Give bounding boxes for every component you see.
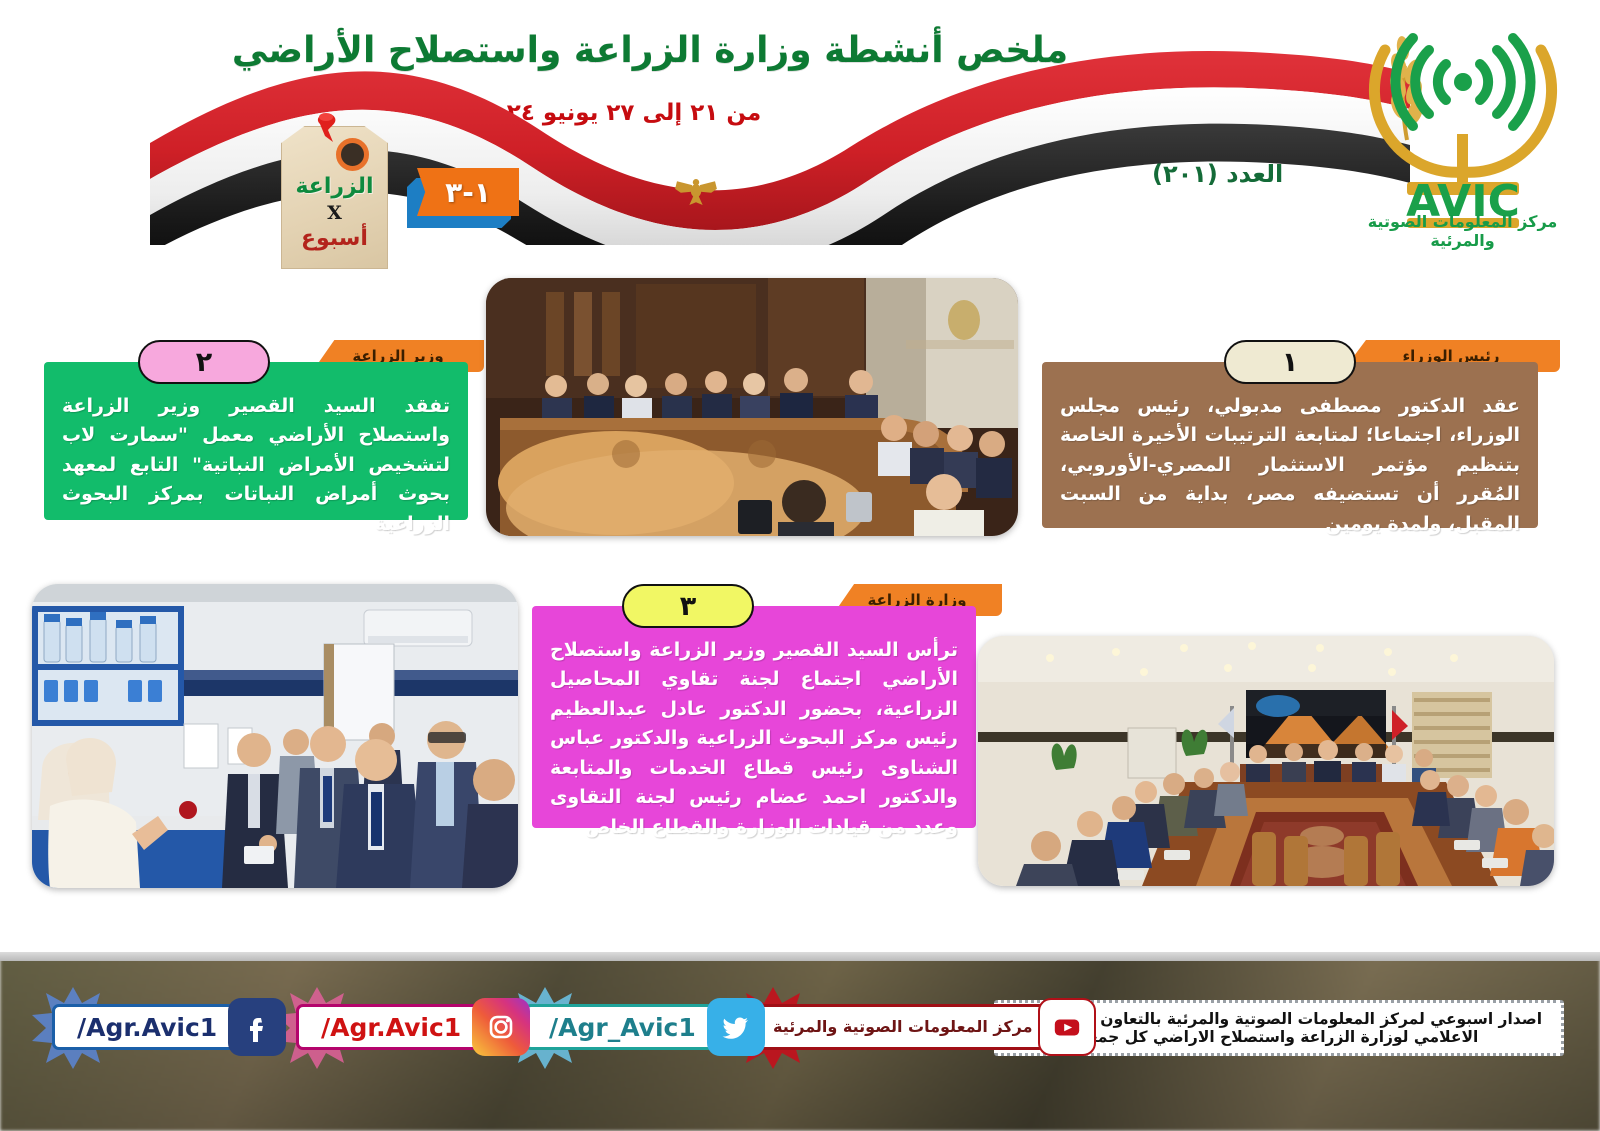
tag-multiplier: X	[281, 202, 388, 224]
cabinet-meeting-photo	[486, 278, 1018, 536]
issue-number: العدد (٢٠١)	[1152, 160, 1283, 188]
news-card-3: وزارة الزراعة ترأس السيد القصير وزير الز…	[532, 584, 1002, 834]
card-1-number: ١	[1282, 347, 1298, 378]
social-link-youtube[interactable]: مركز المعلومات الصوتية والمرئية	[752, 998, 1096, 1056]
youtube-icon	[1038, 998, 1096, 1056]
tag-line-week: أسبوع	[281, 226, 388, 251]
twitter-icon	[707, 998, 765, 1056]
avic-logo: AVIC مركز المعلومات الصوتية والمرئية	[1345, 22, 1580, 252]
instagram-handle: /Agr.Avic1	[296, 1004, 480, 1050]
card-2-number-badge: ٢	[138, 340, 270, 384]
conference-room-photo	[978, 636, 1554, 886]
page-indicator-label: ١-٣	[445, 176, 491, 209]
facebook-icon	[228, 998, 286, 1056]
laboratory-visit-photo	[32, 584, 518, 888]
hanging-tag: الزراعة X أسبوع	[281, 112, 401, 272]
card-1-number-badge: ١	[1224, 340, 1356, 384]
tag-line-agriculture: الزراعة	[281, 174, 388, 199]
footer-bar: /Agr.Avic1 /Agr.Avic1	[0, 952, 1600, 1131]
card-2-body: تفقد السيد القصير وزير الزراعة واستصلاح …	[44, 362, 468, 520]
news-card-1: رئيس الوزراء عقد الدكتور مصطفى مدبولي، ر…	[1042, 340, 1560, 540]
card-3-body: ترأس السيد القصير وزير الزراعة واستصلاح …	[532, 606, 976, 828]
youtube-handle: مركز المعلومات الصوتية والمرئية	[752, 1004, 1046, 1050]
pushpin-icon	[311, 112, 345, 156]
instagram-icon	[472, 998, 530, 1056]
logo-subtitle: مركز المعلومات الصوتية والمرئية	[1345, 212, 1580, 250]
infographic-page: ملخص أنشطة وزارة الزراعة واستصلاح الأراض…	[0, 0, 1600, 1131]
social-link-facebook[interactable]: /Agr.Avic1	[52, 998, 286, 1056]
card-1-body: عقد الدكتور مصطفى مدبولي، رئيس مجلس الوز…	[1042, 362, 1538, 528]
card-2-number: ٢	[196, 347, 212, 378]
page-indicator-banner: ١-٣	[417, 168, 519, 216]
facebook-handle: /Agr.Avic1	[52, 1004, 236, 1050]
social-link-instagram[interactable]: /Agr.Avic1	[296, 998, 530, 1056]
footer-divider	[0, 952, 1600, 961]
page-indicator: ١-٣	[407, 168, 519, 230]
card-3-number: ٣	[680, 591, 696, 622]
card-3-number-badge: ٣	[622, 584, 754, 628]
twitter-handle: /Agr_Avic1	[524, 1004, 715, 1050]
news-card-2: وزير الزراعة تفقد السيد القصير وزير الزر…	[44, 340, 484, 530]
social-link-twitter[interactable]: /Agr_Avic1	[524, 998, 765, 1056]
